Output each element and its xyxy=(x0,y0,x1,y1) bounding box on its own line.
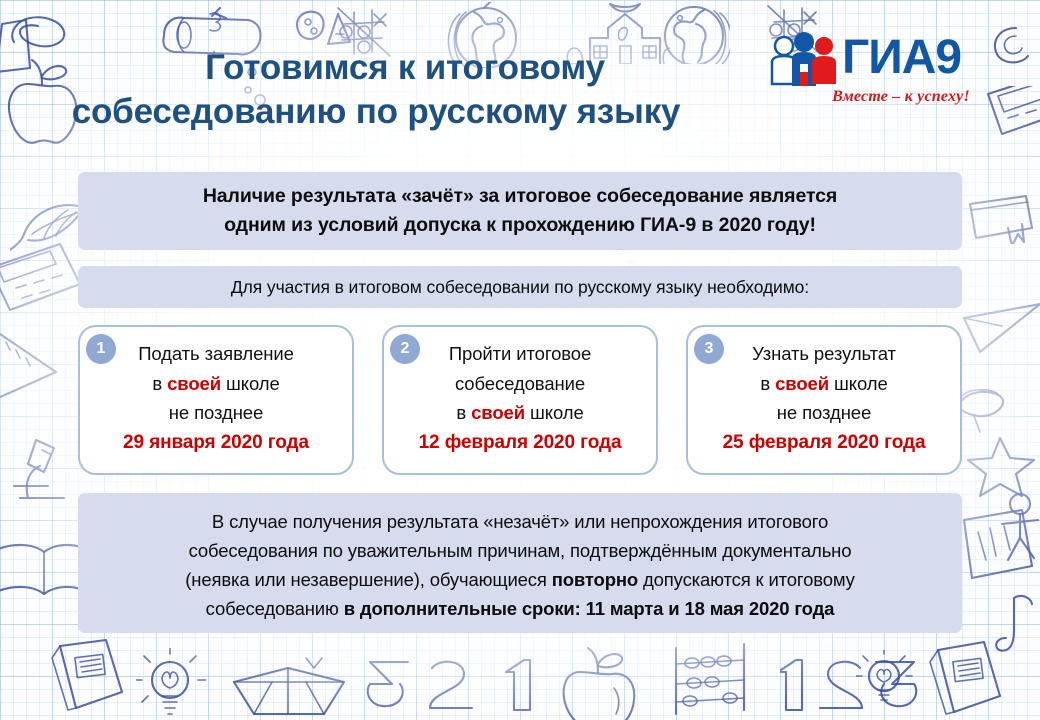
bottom-line-4-bold: в дополнительные сроки: 11 марта и 18 ма… xyxy=(344,598,835,619)
infographic-page: Готовимся к итоговому собеседованию по р… xyxy=(0,0,1040,720)
step-card-3[interactable]: 3 Узнать результат в своей школе не позд… xyxy=(686,325,962,475)
step-3-line-2: в своей школе xyxy=(696,369,952,399)
bottom-line-3-c: допускаются к итоговому xyxy=(638,569,855,590)
step-body-2: Пройти итоговое собеседование в своей шк… xyxy=(392,339,648,457)
bottom-line-3-a: (неявка или незавершение), обучающиеся xyxy=(185,569,551,590)
step-1-line-2-pre: в xyxy=(152,373,167,394)
step-2-date: 12 февраля 2020 года xyxy=(392,428,648,458)
header: Готовимся к итоговому собеседованию по р… xyxy=(0,46,1040,166)
intro-panel: Для участия в итоговом собеседовании по … xyxy=(78,266,962,308)
step-3-line-2-pre: в xyxy=(760,373,775,394)
title-line-2: собеседованию по русскому языку xyxy=(0,90,755,134)
bottom-line-3-bold: повторно xyxy=(552,569,638,590)
gia9-logo: ГИА9 Вместе – к успеху! xyxy=(768,26,992,130)
step-3-line-2-post: школе xyxy=(829,373,888,394)
step-3-line-1: Узнать результат xyxy=(696,339,952,369)
step-3-date: 25 февраля 2020 года xyxy=(696,428,952,458)
intro-text: Для участия в итоговом собеседовании по … xyxy=(78,275,962,299)
step-1-line-3: не позднее xyxy=(88,398,344,428)
step-1-line-2-highlight: своей xyxy=(167,373,221,394)
step-2-line-3-pre: в xyxy=(456,402,471,423)
page-title: Готовимся к итоговому собеседованию по р… xyxy=(55,46,755,134)
three-figures-logo-icon xyxy=(768,32,842,88)
step-3-line-2-highlight: своей xyxy=(775,373,829,394)
step-1-line-2-post: школе xyxy=(221,373,280,394)
step-1-date: 29 января 2020 года xyxy=(88,428,344,458)
logo-tagline: Вместе – к успеху! xyxy=(808,88,994,106)
step-body-1: Подать заявление в своей школе не поздне… xyxy=(88,339,344,457)
step-2-line-3: в своей школе xyxy=(392,398,648,428)
content-root: Готовимся к итоговому собеседованию по р… xyxy=(0,0,1040,720)
step-2-line-2: собеседование xyxy=(392,369,648,399)
bottom-line-4-a: собеседованию xyxy=(206,598,344,619)
notice-line-2: одним из условий допуска к прохождению Г… xyxy=(78,211,962,240)
notice-panel: Наличие результата «зачёт» за итоговое с… xyxy=(78,172,962,250)
step-2-line-3-post: школе xyxy=(525,402,584,423)
bottom-line-3: (неявка или незавершение), обучающиеся п… xyxy=(78,565,962,594)
step-2-line-1: Пройти итоговое xyxy=(392,339,648,369)
bottom-line-2: собеседования по уважительным причинам, … xyxy=(78,536,962,565)
bottom-line-4: собеседованию в дополнительные сроки: 11… xyxy=(78,594,962,623)
step-1-line-2: в своей школе xyxy=(88,369,344,399)
bottom-panel: В случае получения результата «незачёт» … xyxy=(78,493,962,633)
step-3-line-3: не позднее xyxy=(696,398,952,428)
step-card-1[interactable]: 1 Подать заявление в своей школе не позд… xyxy=(78,325,354,475)
step-1-line-1: Подать заявление xyxy=(88,339,344,369)
logo-wordmark: ГИА9 xyxy=(842,32,961,84)
notice-line-1: Наличие результата «зачёт» за итоговое с… xyxy=(78,182,962,211)
steps-row: 1 Подать заявление в своей школе не позд… xyxy=(78,325,962,480)
step-2-line-3-highlight: своей xyxy=(471,402,525,423)
step-card-2[interactable]: 2 Пройти итоговое собеседование в своей … xyxy=(382,325,658,475)
title-line-1: Готовимся к итоговому xyxy=(55,46,755,90)
step-body-3: Узнать результат в своей школе не поздне… xyxy=(696,339,952,457)
bottom-line-1: В случае получения результата «незачёт» … xyxy=(78,507,962,536)
